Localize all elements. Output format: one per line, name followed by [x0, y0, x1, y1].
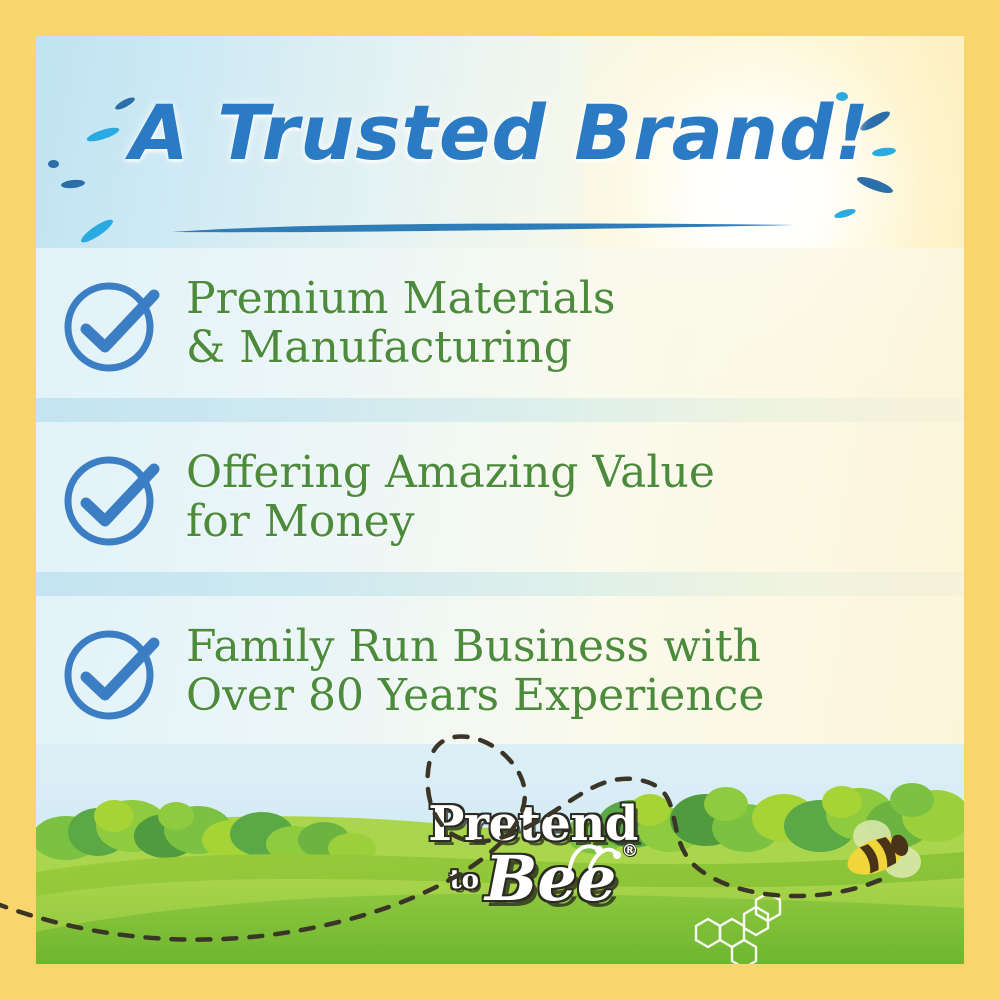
- headline-underline-swoosh: [172, 222, 794, 235]
- logo-word-to: to: [450, 865, 479, 895]
- registered-mark: ®: [621, 844, 638, 860]
- sparkle-icon: [833, 207, 856, 220]
- poster-canvas: A Trusted Brand! Premium Materials & Man…: [36, 36, 964, 964]
- page-title: A Trusted Brand!: [36, 88, 964, 177]
- poster-root: A Trusted Brand! Premium Materials & Man…: [0, 0, 1000, 1000]
- sparkle-icon: [855, 174, 894, 196]
- row-separator-band: [36, 572, 964, 596]
- list-item-line1: Premium Materials: [186, 273, 616, 324]
- list-item-line2: Over 80 Years Experience: [186, 671, 764, 720]
- sparkle-icon: [61, 179, 86, 189]
- list-item-line2: for Money: [186, 497, 715, 546]
- list-item: Family Run Business with Over 80 Years E…: [36, 596, 964, 746]
- benefits-list: Premium Materials & Manufacturing Offeri…: [36, 248, 964, 764]
- check-circle-icon: [36, 445, 186, 549]
- brand-logo: Pretend to Bee ®: [408, 800, 658, 930]
- list-item-line1: Offering Amazing Value: [186, 447, 715, 498]
- row-separator-band: [36, 398, 964, 422]
- list-item-text: Offering Amazing Value for Money: [186, 448, 715, 547]
- list-item-line1: Family Run Business with: [186, 621, 761, 672]
- list-item-text: Premium Materials & Manufacturing: [186, 274, 616, 373]
- bee-antennae-icon: [564, 838, 622, 872]
- sparkle-icon: [78, 216, 115, 246]
- list-item-line2: & Manufacturing: [186, 323, 616, 372]
- check-circle-icon: [36, 619, 186, 723]
- list-item: Offering Amazing Value for Money: [36, 422, 964, 572]
- list-item: Premium Materials & Manufacturing: [36, 248, 964, 398]
- logo-word-bee: Bee ®: [485, 850, 616, 907]
- list-item-text: Family Run Business with Over 80 Years E…: [186, 622, 764, 721]
- check-circle-icon: [36, 271, 186, 375]
- headline-area: A Trusted Brand!: [36, 74, 964, 244]
